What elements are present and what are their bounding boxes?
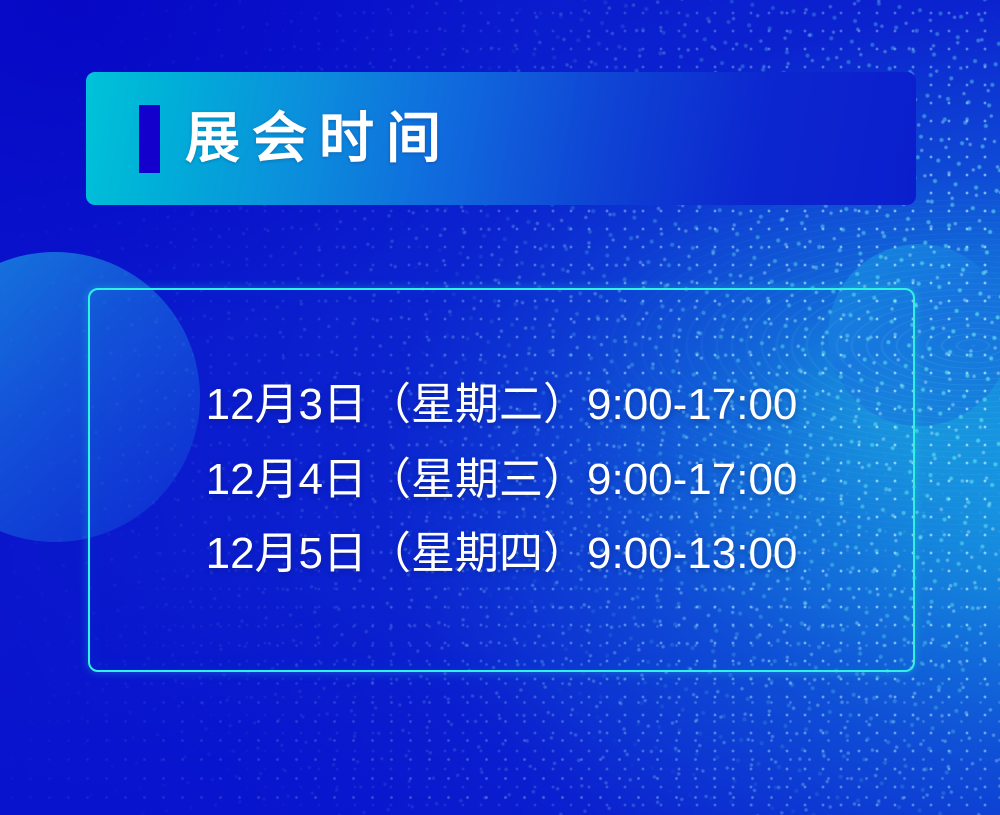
schedule-row: 12月4日（星期三）9:00-17:00 xyxy=(206,456,798,504)
schedule-panel: 12月3日（星期二）9:00-17:00 12月4日（星期三）9:00-17:0… xyxy=(88,288,915,672)
section-header-bar: 展会时间 xyxy=(86,72,916,205)
page-title: 展会时间 xyxy=(185,111,453,166)
schedule-row: 12月5日（星期四）9:00-13:00 xyxy=(206,530,798,578)
header-accent-bar xyxy=(139,105,160,173)
schedule-row: 12月3日（星期二）9:00-17:00 xyxy=(206,381,798,429)
poster-canvas: 展会时间 12月3日（星期二）9:00-17:00 12月4日（星期三）9:00… xyxy=(0,0,1000,815)
schedule-list: 12月3日（星期二）9:00-17:00 12月4日（星期三）9:00-17:0… xyxy=(206,381,798,578)
